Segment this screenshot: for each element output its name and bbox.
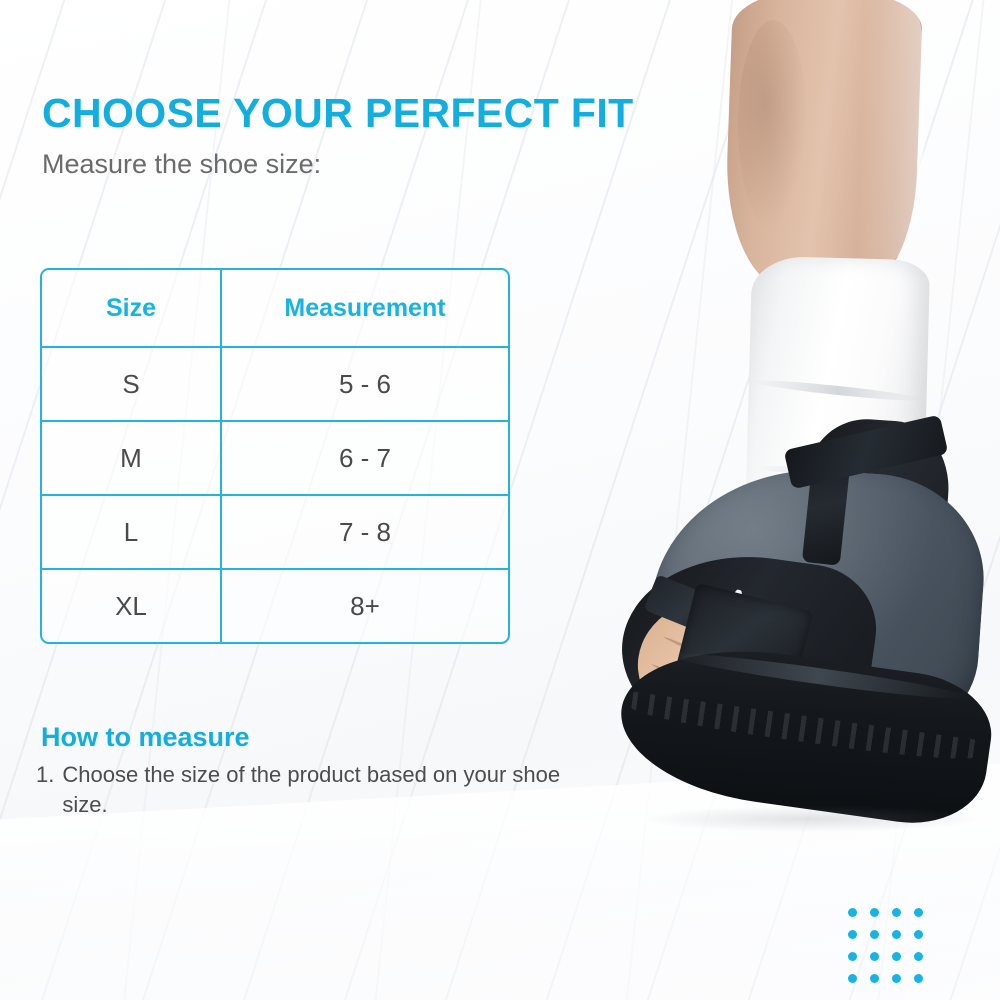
dot-icon — [914, 930, 923, 939]
dot-icon — [914, 952, 923, 961]
dot-icon — [870, 974, 879, 983]
big-toe-nail — [633, 671, 692, 725]
shoe-liner-edge — [704, 588, 746, 692]
ankle-strap-vertical — [802, 442, 852, 565]
instep-velcro-strap — [675, 583, 814, 701]
column-header-size: Size — [42, 270, 220, 346]
sole-tread-pattern — [630, 692, 980, 766]
column-header-measurement: Measurement — [220, 270, 508, 346]
list-item: 1. Choose the size of the product based … — [36, 760, 566, 821]
cell-size: L — [42, 494, 220, 568]
table-row: XL 8+ — [42, 568, 508, 642]
step-text: Choose the size of the product based on … — [62, 760, 566, 821]
dot-icon — [914, 974, 923, 983]
dot-icon — [892, 908, 901, 917]
dot-icon — [848, 952, 857, 961]
how-to-measure-steps: 1. Choose the size of the product based … — [36, 760, 566, 821]
cell-measurement: 5 - 6 — [220, 346, 508, 420]
table-row: S 5 - 6 — [42, 346, 508, 420]
ankle-velcro-strap — [784, 415, 949, 490]
size-chart-table: Size Measurement S 5 - 6 M 6 - 7 L 7 - 8… — [40, 268, 510, 644]
toe-crease — [675, 609, 775, 657]
cell-measurement: 7 - 8 — [220, 494, 508, 568]
cell-size: S — [42, 346, 220, 420]
leg-shading — [738, 20, 808, 230]
dot-icon — [848, 974, 857, 983]
sole-top-edge — [668, 647, 967, 705]
cast-seam-upper — [752, 377, 924, 404]
dot-icon — [870, 908, 879, 917]
shoe-sole — [611, 633, 998, 833]
dot-icon — [892, 974, 901, 983]
dot-icon — [892, 952, 901, 961]
exposed-toes — [629, 586, 807, 747]
cell-size: M — [42, 420, 220, 494]
dot-icon — [892, 930, 901, 939]
table-row: L 7 - 8 — [42, 494, 508, 568]
cell-size: XL — [42, 568, 220, 642]
cell-measurement: 6 - 7 — [220, 420, 508, 494]
shoe-upper-grey — [643, 459, 990, 741]
step-number: 1. — [36, 760, 54, 821]
dot-icon — [914, 908, 923, 917]
toe-crease — [651, 663, 748, 709]
dot-icon — [870, 952, 879, 961]
table-row: M 6 - 7 — [42, 420, 508, 494]
dot-icon — [848, 930, 857, 939]
white-cast — [744, 256, 930, 581]
size-guide-page: CHOOSE YOUR PERFECT FIT Measure the shoe… — [0, 0, 1000, 1000]
dot-icon — [848, 908, 857, 917]
cast-seam-lower — [756, 463, 916, 485]
instep-strap-tail — [643, 574, 722, 635]
dot-grid-decoration — [848, 908, 936, 996]
how-to-measure-title: How to measure — [41, 722, 250, 753]
page-subtitle: Measure the shoe size: — [42, 148, 321, 180]
cell-measurement: 8+ — [220, 568, 508, 642]
shoe-toe-opening-rim — [610, 540, 885, 768]
dot-icon — [870, 930, 879, 939]
table-header-row: Size Measurement — [42, 270, 508, 346]
toe-crease — [663, 635, 765, 683]
page-title: CHOOSE YOUR PERFECT FIT — [42, 92, 634, 135]
contact-shadow — [646, 806, 976, 832]
shoe-ankle-collar — [801, 415, 953, 575]
leg-skin — [723, 0, 923, 293]
